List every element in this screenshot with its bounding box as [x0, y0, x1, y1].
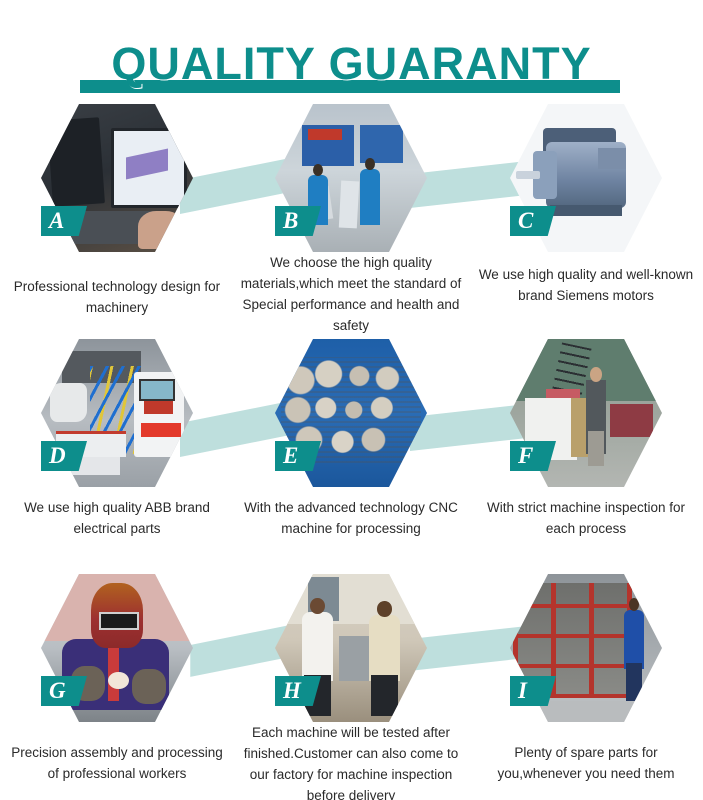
feature-item-b: B We choose the high quality materials,w…	[234, 96, 468, 331]
feature-item-c: C We use high quality and well-known bra…	[469, 96, 703, 331]
feature-item-i: I Plenty of spare parts for you,whenever…	[469, 566, 703, 800]
feature-item-d: D We use high quality ABB brand electric…	[0, 331, 234, 566]
caption-g: Precision assembly and processing of pro…	[4, 742, 230, 784]
feature-item-a: A Professional technology design for mac…	[0, 96, 234, 331]
feature-row-3: G Precision assembly and processing of p…	[0, 566, 703, 800]
caption-c: We use high quality and well-known brand…	[473, 264, 699, 306]
caption-a: Professional technology design for machi…	[4, 276, 230, 318]
caption-d: We use high quality ABB brand electrical…	[4, 497, 230, 539]
feature-row-1: A Professional technology design for mac…	[0, 96, 703, 331]
feature-item-e: E With the advanced technology CNC machi…	[234, 331, 468, 566]
feature-row-2: D We use high quality ABB brand electric…	[0, 331, 703, 566]
caption-b: We choose the high quality materials,whi…	[238, 252, 464, 336]
caption-e: With the advanced technology CNC machine…	[238, 497, 464, 539]
page-header: QUALITY GUARANTY	[0, 22, 703, 84]
feature-grid: A Professional technology design for mac…	[0, 96, 703, 800]
quality-guaranty-page: QUALITY GUARANTY A Professional technolo…	[0, 0, 703, 800]
feature-item-g: G Precision assembly and processing of p…	[0, 566, 234, 800]
caption-h: Each machine will be tested after finish…	[238, 722, 464, 800]
caption-i: Plenty of spare parts for you,whenever y…	[473, 742, 699, 784]
page-title: QUALITY GUARANTY	[0, 38, 703, 90]
feature-item-f: F With strict machine inspection for eac…	[469, 331, 703, 566]
caption-f: With strict machine inspection for each …	[473, 497, 699, 539]
feature-item-h: H Each machine will be tested after fini…	[234, 566, 468, 800]
